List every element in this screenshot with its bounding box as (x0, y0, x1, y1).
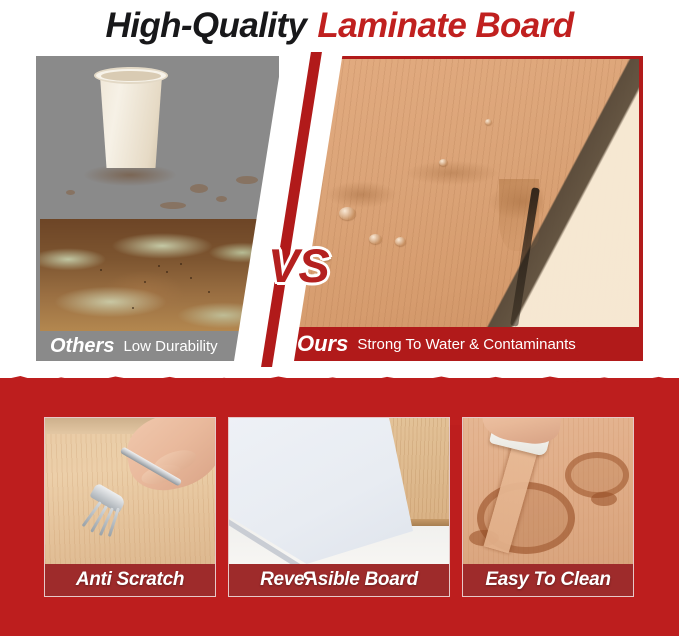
vs-badge: VS (268, 238, 329, 293)
water-bead (485, 119, 492, 125)
page-title-part2: Laminate Board (317, 6, 573, 46)
mold-damaged-surface-photo (40, 219, 275, 331)
spill-stain (565, 452, 629, 498)
mold-speck (166, 271, 168, 273)
feature-card-anti-scratch[interactable]: Anti Scratch (44, 417, 216, 597)
feature-label-bar: ReveRsible Board (229, 564, 449, 596)
wiping-spill-with-cloth-photo (463, 418, 633, 566)
water-bead (339, 207, 356, 220)
others-sublabel: Low Durability (123, 338, 217, 355)
mold-speck (144, 281, 146, 283)
paper-cup-body (97, 72, 165, 168)
feature-card-easy-to-clean[interactable]: Easy To Clean (462, 417, 634, 597)
comparison-section: Others Low Durability Ours Strong To Wat… (0, 52, 679, 367)
paper-cup-interior (101, 71, 161, 81)
liquid-drop (216, 196, 227, 202)
features-section: Anti Scratch ReveRsible Board (0, 378, 679, 636)
mold-speck (180, 263, 182, 265)
ours-label: Ours (297, 331, 348, 357)
liquid-drop (236, 176, 258, 184)
ours-label-bar: Ours Strong To Water & Contaminants (285, 327, 643, 361)
mold-speck (158, 265, 160, 267)
spill-stain (591, 492, 617, 506)
page-title: High-Quality Laminate Board (0, 0, 679, 52)
water-bead (439, 159, 448, 166)
liquid-drop (190, 184, 208, 193)
liquid-drop (160, 202, 186, 209)
water-bead (395, 237, 406, 246)
laminate-board-water-beading-photo (289, 59, 639, 327)
feature-card-reversible-board[interactable]: ReveRsible Board (228, 417, 450, 597)
mold-speck (132, 307, 134, 309)
fork-scratch-test-photo (45, 418, 215, 566)
feature-label-suffix: sible Board (318, 569, 418, 590)
liquid-drop (66, 190, 75, 195)
comparison-ours-panel: Ours Strong To Water & Contaminants (285, 56, 643, 361)
reversible-board-two-sides-photo (229, 418, 449, 566)
feature-label-bar: Easy To Clean (463, 564, 633, 596)
mold-speck (190, 277, 192, 279)
ours-sublabel: Strong To Water & Contaminants (357, 336, 575, 353)
feature-cards: Anti Scratch ReveRsible Board (0, 378, 679, 636)
page-title-part1: High-Quality (106, 6, 307, 46)
feature-label-reversed-letter: R (304, 569, 317, 591)
feature-label: Anti Scratch (76, 569, 184, 591)
water-bead (369, 234, 382, 244)
mold-speck (208, 291, 210, 293)
mold-speck (100, 269, 102, 271)
feature-label-prefix: Reve (260, 569, 304, 590)
feature-label-bar: Anti Scratch (45, 564, 215, 596)
paper-cup-spilled-liquid-photo (40, 58, 275, 215)
feature-label: ReveRsible Board (260, 569, 418, 591)
feature-label: Easy To Clean (485, 569, 610, 591)
others-label: Others (50, 335, 114, 358)
